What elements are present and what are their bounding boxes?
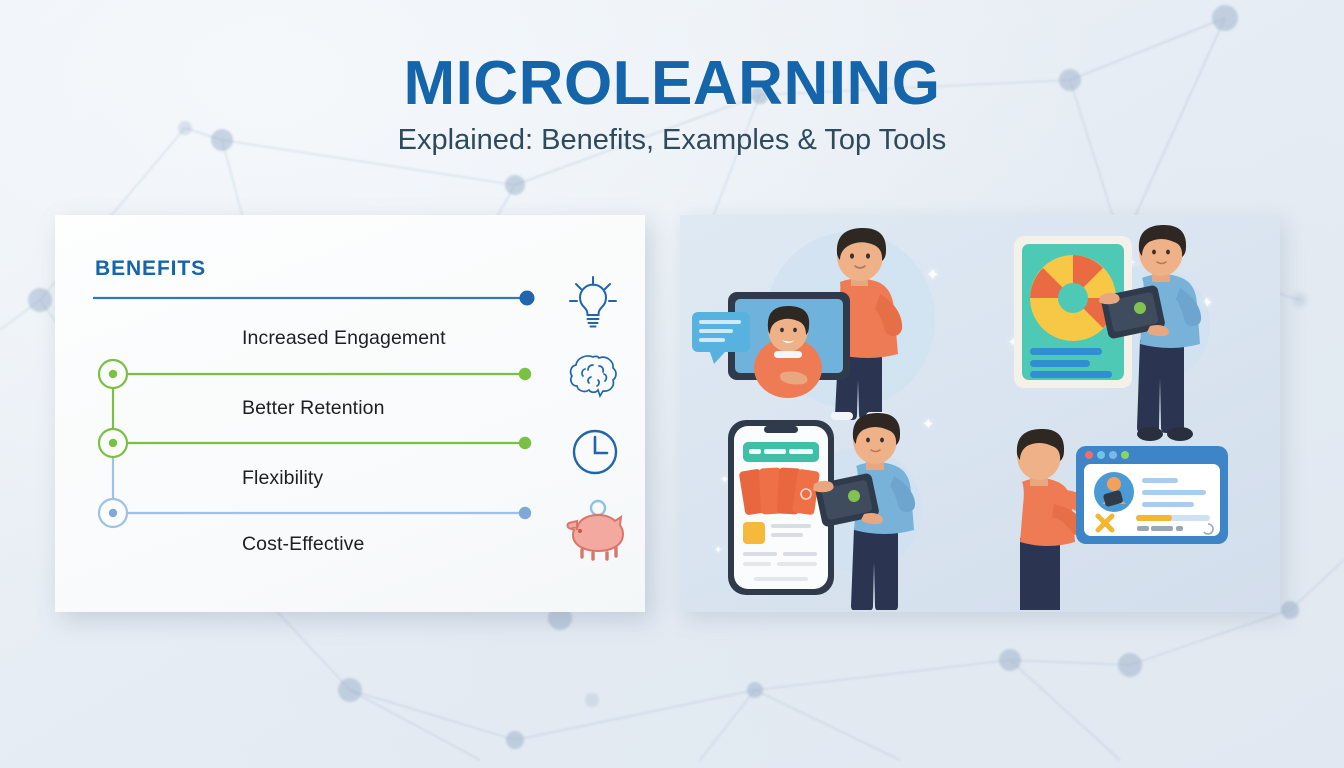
benefits-card: BENEFITS xyxy=(55,215,645,612)
mobile-cards-scene xyxy=(702,410,967,610)
piggy-bank-icon xyxy=(568,501,624,559)
benefit-label-3: Flexibility xyxy=(242,467,323,490)
browser-window-scene xyxy=(1000,420,1275,610)
benefits-endpoint-dot-1 xyxy=(520,291,535,306)
page-title: MICROLEARNING xyxy=(0,52,1344,115)
brain-icon xyxy=(571,356,616,396)
benefit-label-1: Increased Engagement xyxy=(242,327,446,350)
video-call-tablet-scene xyxy=(688,220,978,420)
benefit-label-2: Better Retention xyxy=(242,397,385,420)
benefits-endpoint-dot-4 xyxy=(519,507,531,519)
benefits-endpoint-dot-3 xyxy=(519,437,531,449)
benefits-endpoint-dot-2 xyxy=(519,368,531,380)
phone-banner-text xyxy=(749,449,813,454)
header: MICROLEARNING Explained: Benefits, Examp… xyxy=(0,52,1344,157)
page-subtitle: Explained: Benefits, Examples & Top Tool… xyxy=(0,125,1344,157)
infographic-canvas: MICROLEARNING Explained: Benefits, Examp… xyxy=(0,0,1344,768)
benefit-label-4: Cost-Effective xyxy=(242,533,364,556)
clock-icon xyxy=(574,431,616,473)
lightbulb-icon xyxy=(570,277,616,327)
illustration-panel: ✦ ✦ ✦ ✦ ✦ ✦ ✦ ✦ ✦ xyxy=(680,215,1280,612)
